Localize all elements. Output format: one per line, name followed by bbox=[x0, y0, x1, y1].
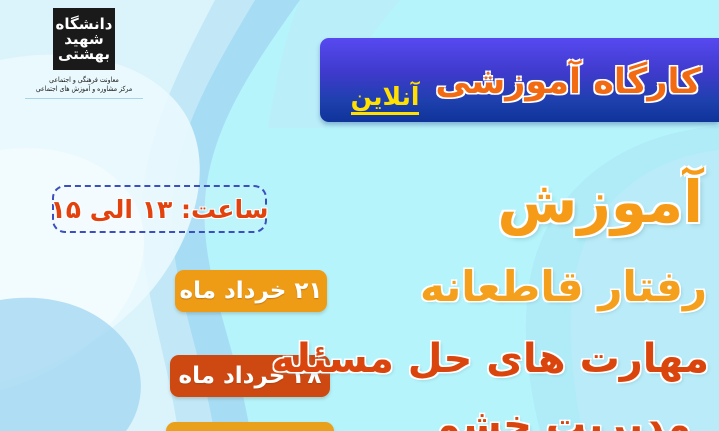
university-logo-block: دانشگاه شهید بهشتی معاونت فرهنگی و اجتما… bbox=[14, 8, 154, 99]
banner-main-title: کارگاه آموزشی bbox=[435, 62, 701, 102]
date-chip-1: ۲۱ خرداد ماه bbox=[175, 270, 327, 312]
banner-online-badge: آنلاین bbox=[351, 82, 420, 115]
workshop-poster: دانشگاه شهید بهشتی معاونت فرهنگی و اجتما… bbox=[0, 0, 719, 431]
headline-assertive-behavior: رفتار قاطعانه bbox=[420, 262, 707, 311]
logo-subtitle: معاونت فرهنگی و اجتماعی مرکز مشاوره و آم… bbox=[14, 77, 154, 95]
headline-education: آموزش bbox=[497, 168, 703, 236]
university-emblem-icon: دانشگاه شهید بهشتی bbox=[53, 8, 115, 70]
workshop-banner: کارگاه آموزشی آنلاین bbox=[320, 38, 719, 122]
logo-subtitle-line-2: مرکز مشاوره و آموزش های اجتماعی bbox=[14, 85, 154, 95]
headline-problem-solving-skills: مهارت های حل مسئله bbox=[271, 336, 709, 382]
session-time-box: ساعت: ۱۳ الی ۱۵ bbox=[52, 185, 267, 233]
session-time-label: ساعت: ۱۳ الی ۱۵ bbox=[51, 195, 269, 224]
emblem-calligraphy: دانشگاه شهید بهشتی bbox=[60, 15, 108, 63]
logo-divider bbox=[25, 98, 143, 99]
date-chip-3: ۴ تیر ماه bbox=[166, 422, 334, 431]
date-chip-1-label: ۲۱ خرداد ماه bbox=[180, 278, 323, 304]
headline-anger-management: مدیریت خشم bbox=[431, 402, 691, 431]
banner-text-row: کارگاه آموزشی آنلاین bbox=[342, 60, 701, 101]
